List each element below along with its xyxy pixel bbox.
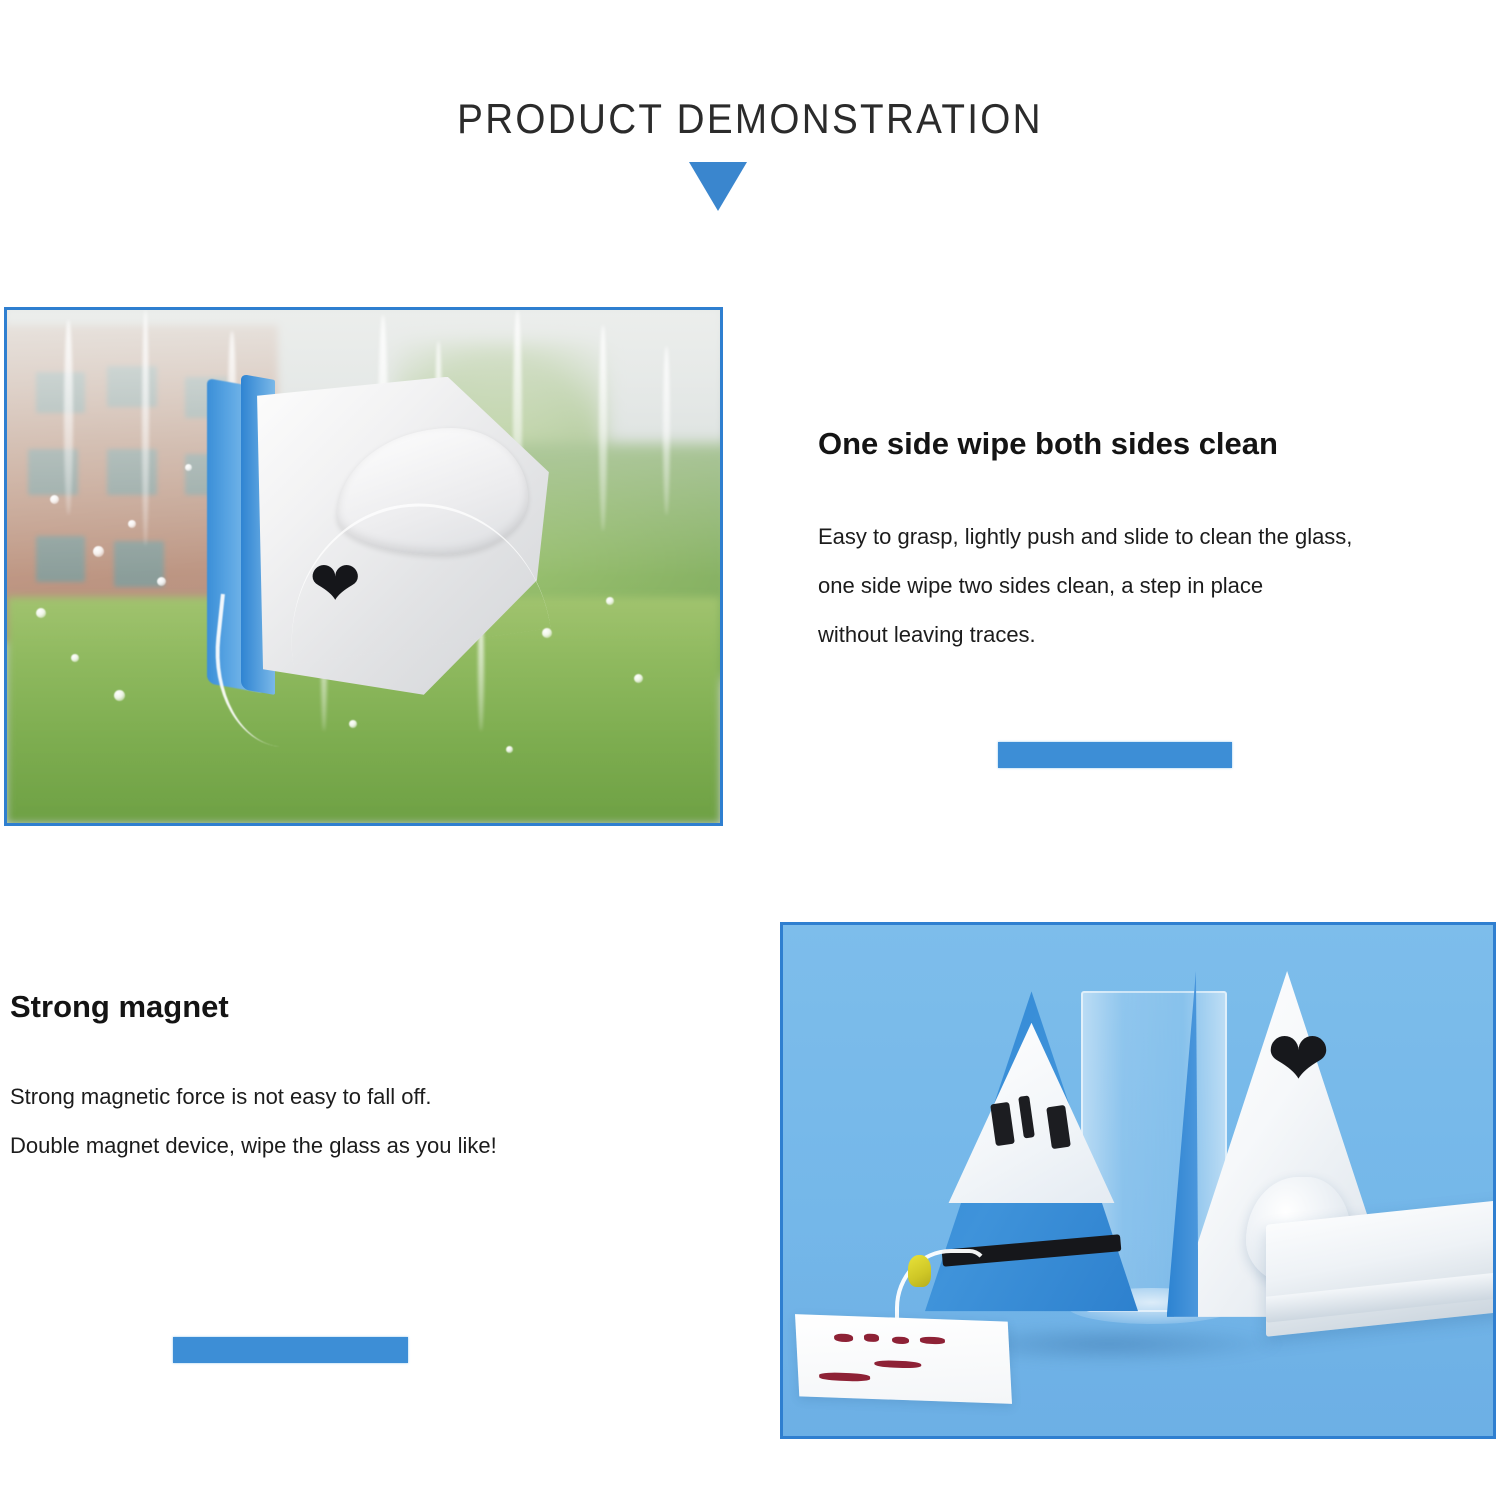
accent-bar-strong-magnet [173, 1337, 408, 1363]
paper-mark [819, 1373, 870, 1382]
paper-mark [919, 1337, 945, 1344]
paper-mark [834, 1334, 854, 1343]
body-line: Easy to grasp, lightly push and slide to… [818, 512, 1352, 561]
water-droplet [50, 495, 59, 504]
cord-stopper [908, 1255, 931, 1286]
body-line: Strong magnetic force is not easy to fal… [10, 1072, 497, 1121]
section-heading-one-side-wipe: One side wipe both sides clean [818, 426, 1278, 462]
section-body-one-side-wipe: Easy to grasp, lightly push and slide to… [818, 512, 1352, 659]
paper-mark [864, 1334, 879, 1342]
water-streak [64, 320, 73, 515]
water-droplet [114, 690, 125, 701]
body-line: Double magnet device, wipe the glass as … [10, 1121, 497, 1170]
water-droplet [36, 608, 46, 618]
water-droplet [93, 546, 104, 557]
water-streak [599, 325, 607, 530]
body-line: without leaving traces. [818, 610, 1352, 659]
page-title: PRODUCT DEMONSTRATION [60, 95, 1440, 143]
section-body-strong-magnet: Strong magnetic force is not easy to fal… [10, 1072, 497, 1170]
heart-magnet-icon: ❤ [1264, 1030, 1332, 1126]
window-wiper-on-rainy-glass-photo: ❤ [4, 307, 723, 826]
test-paper-sheet [795, 1315, 1012, 1404]
wiper-unit-blue [925, 991, 1138, 1338]
water-droplet [157, 577, 166, 586]
wiper-white-face [948, 1023, 1114, 1204]
body-line: one side wipe two sides clean, a step in… [818, 561, 1352, 610]
water-droplet [71, 654, 79, 662]
photo-scene: ❤ [783, 925, 1493, 1436]
section-heading-strong-magnet: Strong magnet [10, 989, 229, 1025]
photo-scene: ❤ [7, 310, 720, 823]
water-streak [663, 346, 670, 515]
paper-mark [892, 1337, 909, 1345]
triangle-down-icon [689, 162, 747, 211]
accent-bar-one-side-wipe [998, 742, 1232, 768]
double-magnet-device-studio-photo: ❤ [780, 922, 1496, 1439]
paper-mark [874, 1360, 921, 1369]
window-wiper-device: ❤ [207, 377, 549, 695]
